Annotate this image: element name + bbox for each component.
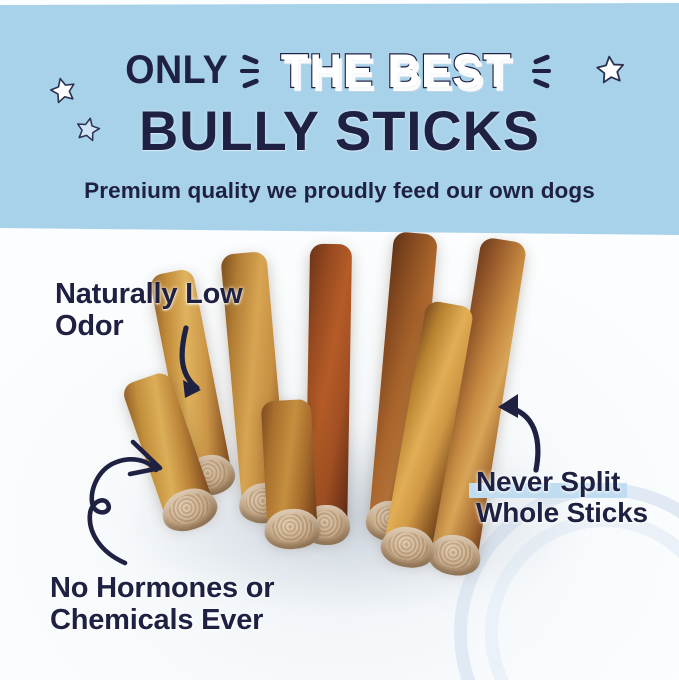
title-banner: ONLY THE BEST BULLY STICKS Premium quali…: [0, 3, 679, 239]
sparkle-burst-right-icon: [527, 48, 557, 94]
headline-line-1: ONLY THE BEST: [0, 43, 679, 98]
bully-stick-front-center: [261, 399, 318, 541]
callout-split-line1-wrap: Never Split: [476, 466, 648, 497]
headline-line-2: BULLY STICKS: [10, 98, 669, 163]
callout-never-split: Never Split Whole Sticks: [476, 466, 648, 529]
curved-arrow-down-right-icon: [155, 322, 260, 407]
callout-split-line2: Whole Sticks: [476, 497, 648, 528]
callout-hormones-line1: No Hormones or: [50, 572, 274, 604]
sparkle-burst-left-icon: [236, 48, 266, 94]
headline-prefix: ONLY: [125, 48, 228, 93]
callout-hormones-line2: Chemicals Ever: [50, 604, 274, 636]
callout-split-line1: Never Split: [476, 466, 620, 497]
callout-no-hormones: No Hormones or Chemicals Ever: [50, 572, 274, 637]
curved-arrow-up-left-icon: [468, 380, 568, 475]
headline-emphasis: THE BEST: [281, 43, 512, 98]
banner-subtitle: Premium quality we proudly feed our own …: [0, 178, 679, 204]
curly-loop-arrow-up-right-icon: [78, 428, 173, 568]
callout-odor-line1: Naturally Low: [55, 278, 243, 310]
product-infographic: ONLY THE BEST BULLY STICKS Premium quali…: [0, 0, 679, 680]
